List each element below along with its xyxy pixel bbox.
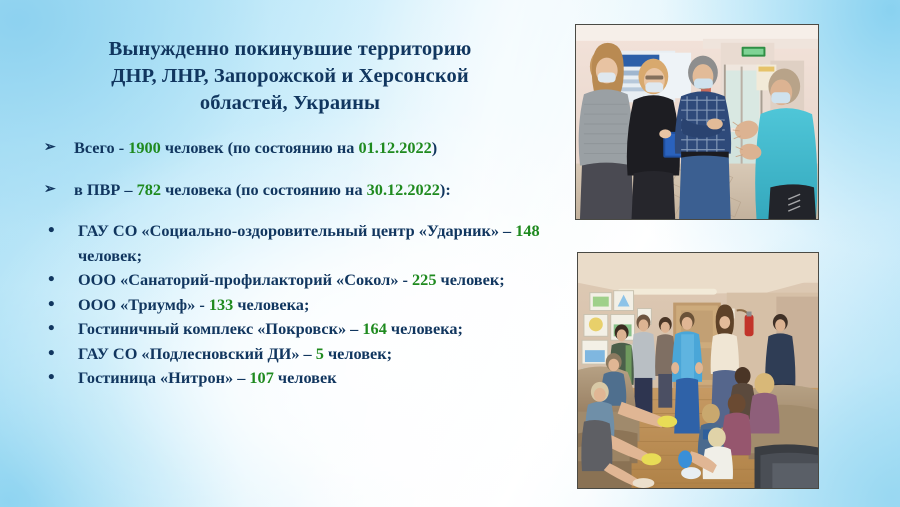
bullet-item-6: •Гостиничный комплекс «Покровск» – 164 ч… <box>44 317 556 342</box>
bullet-item-7: •ГАУ СО «Подлесновский ДИ» – 5 человек; <box>44 342 556 367</box>
bullet-item-2: ➢в ПВР – 782 человека (по состоянию на 3… <box>44 178 556 203</box>
dot-bullet-icon: • <box>44 268 78 293</box>
bullet-text-segment: ) <box>432 138 437 157</box>
page-title-line-3: областей, Украины <box>44 90 536 117</box>
bullet-item-3-text: ГАУ СО «Социально-оздоровительный центр … <box>78 219 556 268</box>
arrow-bullet-icon: ➢ <box>44 178 74 203</box>
bullet-item-1: ➢Всего - 1900 человек (по состоянию на 0… <box>44 136 556 161</box>
bullet-text-segment: Гостиничный комплекс «Покровск» – <box>78 319 362 338</box>
highlighted-value: 01.12.2022 <box>358 138 431 157</box>
highlighted-value: 30.12.2022 <box>367 180 440 199</box>
bullet-text-segment: человек; <box>436 270 504 289</box>
bullet-item-1-text: Всего - 1900 человек (по состоянию на 01… <box>74 136 556 161</box>
bullet-text-segment: ГАУ СО «Подлесновский ДИ» – <box>78 344 316 363</box>
highlighted-value: 107 <box>249 368 273 387</box>
bullet-item-6-text: Гостиничный комплекс «Покровск» – 164 че… <box>78 317 556 342</box>
text-column: Вынужденно покинувшие территориюДНР, ЛНР… <box>0 0 566 507</box>
bullet-text-segment: ООО «Санаторий-профилакторий «Сокол» - <box>78 270 412 289</box>
page-title-line-2: ДНР, ЛНР, Запорожской и Херсонской <box>44 63 536 90</box>
bullet-text-segment: Всего - <box>74 138 128 157</box>
bullet-text-segment: Гостиница «Нитрон» – <box>78 368 249 387</box>
highlighted-value: 1900 <box>128 138 161 157</box>
photo-officials-corridor-image <box>576 25 818 219</box>
bullet-list: ➢Всего - 1900 человек (по состоянию на 0… <box>44 136 556 391</box>
bullet-item-4: •ООО «Санаторий-профилакторий «Сокол» - … <box>44 268 556 293</box>
bullet-text-segment: ООО «Триумф» - <box>78 295 209 314</box>
bullet-item-5: •ООО «Триумф» - 133 человека; <box>44 293 556 318</box>
bullet-item-2-text: в ПВР – 782 человека (по состоянию на 30… <box>74 178 556 203</box>
bullet-text-segment: ): <box>440 180 451 199</box>
bullet-text-segment: человек <box>274 368 337 387</box>
page-title: Вынужденно покинувшие территориюДНР, ЛНР… <box>44 36 536 117</box>
slide-canvas: Вынужденно покинувшие территориюДНР, ЛНР… <box>0 0 900 507</box>
photo-group-common-room <box>577 252 819 489</box>
highlighted-value: 5 <box>316 344 324 363</box>
bullet-text-segment: человек; <box>78 246 142 265</box>
photo-officials-corridor <box>575 24 819 220</box>
dot-bullet-icon: • <box>44 317 78 342</box>
dot-bullet-icon: • <box>44 219 78 244</box>
highlighted-value: 133 <box>209 295 233 314</box>
bullet-item-8: •Гостиница «Нитрон» – 107 человек <box>44 366 556 391</box>
page-title-line-1: Вынужденно покинувшие территорию <box>44 36 536 63</box>
bullet-text-segment: человека; <box>233 295 309 314</box>
bullet-text-segment: человек (по состоянию на <box>161 138 359 157</box>
bullet-text-segment: человек; <box>324 344 392 363</box>
bullet-text-segment: в ПВР – <box>74 180 137 199</box>
dot-bullet-icon: • <box>44 342 78 367</box>
bullet-item-3: •ГАУ СО «Социально-оздоровительный центр… <box>44 219 556 268</box>
bullet-item-8-text: Гостиница «Нитрон» – 107 человек <box>78 366 556 391</box>
arrow-bullet-icon: ➢ <box>44 136 74 161</box>
dot-bullet-icon: • <box>44 366 78 391</box>
bullet-text-segment: человека; <box>387 319 463 338</box>
highlighted-value: 164 <box>362 319 386 338</box>
bullet-item-7-text: ГАУ СО «Подлесновский ДИ» – 5 человек; <box>78 342 556 367</box>
highlighted-value: 225 <box>412 270 436 289</box>
bullet-item-5-text: ООО «Триумф» - 133 человека; <box>78 293 556 318</box>
bullet-item-4-text: ООО «Санаторий-профилакторий «Сокол» - 2… <box>78 268 556 293</box>
bullet-text-segment: человека (по состоянию на <box>161 180 367 199</box>
highlighted-value: 782 <box>137 180 161 199</box>
bullet-text-segment: ГАУ СО «Социально-оздоровительный центр … <box>78 221 515 240</box>
dot-bullet-icon: • <box>44 293 78 318</box>
photo-group-common-room-image <box>578 253 818 488</box>
highlighted-value: 148 <box>515 221 539 240</box>
